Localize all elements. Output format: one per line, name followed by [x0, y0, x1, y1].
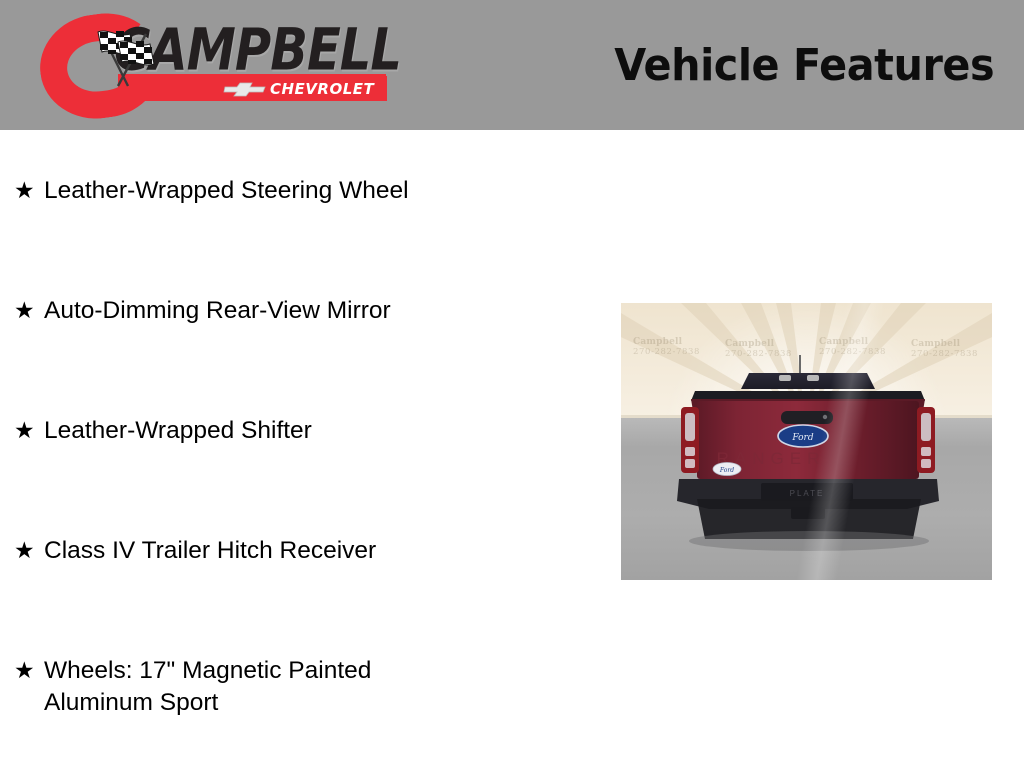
star-bullet-icon: ★: [14, 370, 44, 443]
star-bullet-icon: ★: [14, 250, 44, 323]
svg-text:Ford: Ford: [719, 467, 734, 474]
truck-rear-illustration: Ford RANGER Ford PLATE: [621, 303, 992, 580]
list-item: ★ Wheels: 17" Magnetic Painted Aluminum …: [0, 610, 600, 730]
chevrolet-bowtie-icon: [223, 81, 267, 97]
page-header: CAMPBELL: [0, 0, 1024, 130]
dealer-logo[interactable]: CAMPBELL: [32, 6, 392, 124]
feature-label: Class IV Trailer Hitch Receiver: [44, 490, 376, 567]
list-item: ★ Leather-Wrapped Steering Wheel: [0, 130, 600, 250]
feature-label: Auto-Dimming Rear-View Mirror: [44, 250, 391, 327]
star-bullet-icon: ★: [14, 490, 44, 563]
star-bullet-icon: ★: [14, 130, 44, 203]
feature-label: Leather-Wrapped Steering Wheel: [44, 130, 409, 207]
chevrolet-label: CHEVROLET: [270, 80, 374, 98]
star-bullet-icon: ★: [14, 610, 44, 683]
vehicle-photo[interactable]: Campbell270-282-7838 Campbell270-282-783…: [621, 303, 992, 580]
svg-text:PLATE: PLATE: [790, 489, 825, 498]
list-item: ★ Class IV Trailer Hitch Receiver: [0, 490, 600, 610]
svg-text:Ford: Ford: [791, 433, 813, 443]
feature-label: Wheels: 17" Magnetic Painted Aluminum Sp…: [44, 610, 484, 719]
list-item: ★ Leather-Wrapped Shifter: [0, 370, 600, 490]
vehicle-features-list: ★ Leather-Wrapped Steering Wheel ★ Auto-…: [0, 130, 600, 730]
list-item: ★ Auto-Dimming Rear-View Mirror: [0, 250, 600, 370]
page-title: Vehicle Features: [614, 40, 994, 91]
crossed-checkered-flags-icon: [88, 28, 162, 90]
chevrolet-brand-strip: CHEVROLET: [217, 76, 387, 101]
feature-label: Leather-Wrapped Shifter: [44, 370, 312, 447]
